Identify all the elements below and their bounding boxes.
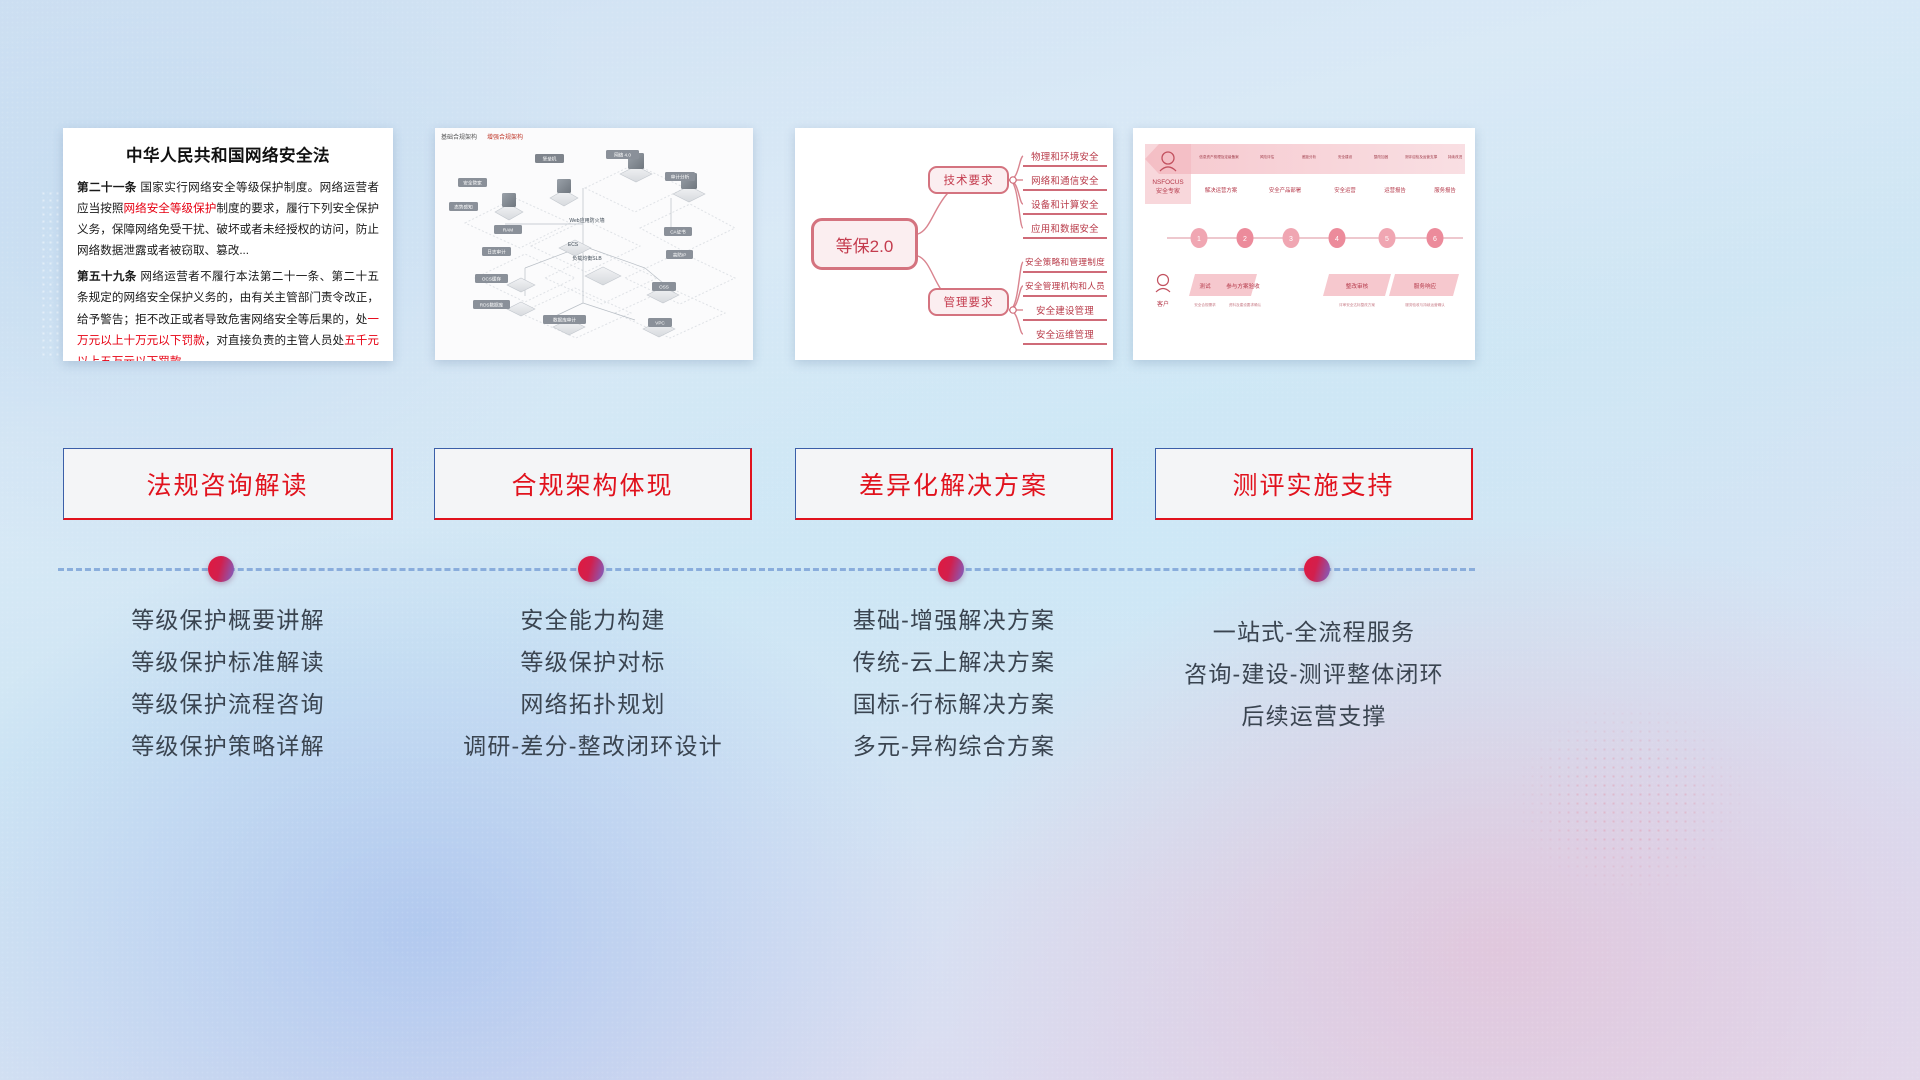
svg-text:测评迎检及运营支撑: 测评迎检及运营支撑 xyxy=(1405,154,1438,159)
svg-text:服务响应: 服务响应 xyxy=(1414,282,1437,290)
column-header-2[interactable]: 合规架构体现 xyxy=(434,448,752,520)
mindmap-leaf-org[interactable]: 安全管理机构和人员 xyxy=(1023,276,1107,297)
column-list-3: 基础-增强解决方案 传统-云上解决方案 国标-行标解决方案 多元-异构综合方案 xyxy=(795,600,1113,767)
column-header-1[interactable]: 法规咨询解读 xyxy=(63,448,393,520)
svg-text:Web应用防火墙: Web应用防火墙 xyxy=(569,217,604,224)
svg-text:VPC: VPC xyxy=(655,321,665,326)
customer-avatar-icon xyxy=(1158,275,1169,286)
svg-text:信息资产梳理及定级备案: 信息资产梳理及定级备案 xyxy=(1199,154,1239,159)
timeline-dot-2[interactable] xyxy=(578,556,604,582)
column-list-1: 等级保护概要讲解 等级保护标准解读 等级保护流程咨询 等级保护策略详解 xyxy=(63,600,393,767)
svg-text:OSS: OSS xyxy=(659,285,669,290)
svg-text:态势感知: 态势感知 xyxy=(454,204,473,211)
list-item: 安全能力构建 xyxy=(434,600,752,642)
svg-text:CA证书: CA证书 xyxy=(670,229,686,236)
svg-text:安全管家: 安全管家 xyxy=(463,180,482,187)
roadmap-customer-label: 客户 xyxy=(1157,300,1169,308)
list-item: 等级保护概要讲解 xyxy=(63,600,393,642)
svg-text:服务报告: 服务报告 xyxy=(1434,186,1456,194)
card-law-document[interactable]: 中华人民共和国网络安全法 第二十一条 国家实行网络安全等级保护制度。网络运营者应… xyxy=(63,128,393,361)
mindmap-branch-technical[interactable]: 技术要求 xyxy=(928,166,1009,194)
svg-text:解决运营方案: 解决运营方案 xyxy=(1205,186,1238,194)
svg-text:审计分析: 审计分析 xyxy=(671,174,690,181)
svg-text:负载均衡SLB: 负载均衡SLB xyxy=(572,255,602,262)
list-item: 网络拓扑规划 xyxy=(434,684,752,726)
svg-text:参与方案验收: 参与方案验收 xyxy=(1226,282,1260,290)
card-architecture-diagram[interactable]: 基础合规架构 增强合规架构 xyxy=(435,128,753,360)
mindmap-leaf-construction[interactable]: 安全建设管理 xyxy=(1023,300,1107,321)
roadmap-canvas: NSFOCUS 安全专家 信息资产梳理及定级备案 风险评估 差距分析 安全建设 … xyxy=(1133,128,1475,360)
svg-text:资料及建设要求确认: 资料及建设要求确认 xyxy=(1229,302,1262,307)
list-item: 等级保护策略详解 xyxy=(63,726,393,768)
mindmap-leaf-policy[interactable]: 安全策略和管理制度 xyxy=(1023,252,1107,273)
mindmap-branch-management[interactable]: 管理要求 xyxy=(928,288,1009,316)
mindmap-collapse-toggle-management[interactable] xyxy=(1010,307,1016,313)
law-body: 中华人民共和国网络安全法 第二十一条 国家实行网络安全等级保护制度。网络运营者应… xyxy=(63,128,393,361)
svg-text:日志审计: 日志审计 xyxy=(487,249,506,256)
column-header-4[interactable]: 测评实施支持 xyxy=(1155,448,1473,520)
card-mindmap[interactable]: 等保2.0 技术要求 物理和环境安全 网络和通信安全 设备和计算安全 应用和数据… xyxy=(795,128,1113,360)
mindmap-leaf-physical[interactable]: 物理和环境安全 xyxy=(1023,146,1107,167)
article-21-highlight: 网络安全等级保护 xyxy=(123,202,216,215)
preview-cards-row: 中华人民共和国网络安全法 第二十一条 国家实行网络安全等级保护制度。网络运营者应… xyxy=(0,128,1920,360)
svg-text:测试: 测试 xyxy=(1199,282,1211,290)
list-item: 等级保护流程咨询 xyxy=(63,684,393,726)
roadmap-brand: NSFOCUS xyxy=(1152,179,1183,186)
roadmap-brand-sub: 安全专家 xyxy=(1156,187,1180,195)
article-21-label: 第二十一条 xyxy=(77,181,137,194)
architecture-svg: 安全管家 态势感知 堡垒机 网络 4.0 审计分析 RAM 日志审计 CA证书 … xyxy=(435,128,753,360)
svg-text:6: 6 xyxy=(1433,236,1437,243)
svg-text:评审安全达标整改方案: 评审安全达标整改方案 xyxy=(1339,302,1375,307)
law-article-59: 第五十九条 网络运营者不履行本法第二十一条、第二十五条规定的网络安全保护义务的，… xyxy=(77,266,379,361)
mindmap-canvas: 等保2.0 技术要求 物理和环境安全 网络和通信安全 设备和计算安全 应用和数据… xyxy=(795,128,1113,360)
svg-text:1: 1 xyxy=(1197,236,1201,243)
svg-text:OCS缓存: OCS缓存 xyxy=(482,276,502,283)
list-item: 等级保护标准解读 xyxy=(63,642,393,684)
svg-text:持续改进: 持续改进 xyxy=(1448,154,1463,159)
svg-text:数据库审计: 数据库审计 xyxy=(553,317,576,324)
svg-text:安全合规需求: 安全合规需求 xyxy=(1194,302,1216,307)
svg-text:高防IP: 高防IP xyxy=(673,252,687,259)
mindmap-leaf-device[interactable]: 设备和计算安全 xyxy=(1023,194,1107,215)
timeline xyxy=(0,568,1920,572)
svg-text:ECS: ECS xyxy=(568,242,579,248)
svg-text:运营报告: 运营报告 xyxy=(1384,186,1406,194)
timeline-dot-1[interactable] xyxy=(208,556,234,582)
mindmap-root-node[interactable]: 等保2.0 xyxy=(811,218,918,270)
list-item: 一站式-全流程服务 xyxy=(1155,612,1473,654)
list-item: 多元-异构综合方案 xyxy=(795,726,1113,768)
timeline-dashed-line xyxy=(58,568,1475,571)
svg-text:差距分析: 差距分析 xyxy=(1302,154,1317,159)
svg-text:5: 5 xyxy=(1385,236,1389,243)
law-title: 中华人民共和国网络安全法 xyxy=(77,142,379,166)
svg-text:整改加固: 整改加固 xyxy=(1374,154,1389,159)
roadmap-svg: NSFOCUS 安全专家 信息资产梳理及定级备案 风险评估 差距分析 安全建设 … xyxy=(1133,128,1475,360)
svg-text:4: 4 xyxy=(1335,236,1339,243)
tab-enhanced-architecture[interactable]: 增强合规架构 xyxy=(487,132,523,141)
article-59-label: 第五十九条 xyxy=(77,270,137,283)
list-item: 传统-云上解决方案 xyxy=(795,642,1113,684)
svg-text:安全运营: 安全运营 xyxy=(1334,186,1356,194)
list-item: 国标-行标解决方案 xyxy=(795,684,1113,726)
timeline-dot-3[interactable] xyxy=(938,556,964,582)
svg-text:服务验收与持续运营确认: 服务验收与持续运营确认 xyxy=(1405,302,1445,307)
architecture-tabs: 基础合规架构 增强合规架构 xyxy=(441,132,523,141)
svg-text:RAM: RAM xyxy=(503,228,513,233)
svg-text:堡垒机: 堡垒机 xyxy=(543,156,557,163)
column-lists-row: 等级保护概要讲解 等级保护标准解读 等级保护流程咨询 等级保护策略详解 安全能力… xyxy=(0,600,1920,820)
card-roadmap[interactable]: NSFOCUS 安全专家 信息资产梳理及定级备案 风险评估 差距分析 安全建设 … xyxy=(1133,128,1475,360)
list-item: 后续运营支撑 xyxy=(1155,696,1473,738)
svg-text:RDS数据库: RDS数据库 xyxy=(480,302,504,309)
svg-text:安全建设: 安全建设 xyxy=(1338,154,1353,159)
timeline-dot-4[interactable] xyxy=(1304,556,1330,582)
mindmap-leaf-operation[interactable]: 安全运维管理 xyxy=(1023,324,1107,345)
architecture-canvas: 基础合规架构 增强合规架构 xyxy=(435,128,753,360)
tab-basic-architecture[interactable]: 基础合规架构 xyxy=(441,132,477,141)
list-item: 等级保护对标 xyxy=(434,642,752,684)
svg-text:整改审核: 整改审核 xyxy=(1346,282,1369,290)
mindmap-leaf-network[interactable]: 网络和通信安全 xyxy=(1023,170,1107,191)
svg-text:风险评估: 风险评估 xyxy=(1260,154,1275,159)
law-article-21: 第二十一条 国家实行网络安全等级保护制度。网络运营者应当按照网络安全等级保护制度… xyxy=(77,177,379,261)
mindmap-leaf-application[interactable]: 应用和数据安全 xyxy=(1023,218,1107,239)
svg-text:安全产品部署: 安全产品部署 xyxy=(1269,186,1302,194)
svg-text:网络 4.0: 网络 4.0 xyxy=(614,152,631,159)
list-item: 调研-差分-整改闭环设计 xyxy=(434,726,752,768)
column-list-2: 安全能力构建 等级保护对标 网络拓扑规划 调研-差分-整改闭环设计 xyxy=(434,600,752,767)
column-header-3[interactable]: 差异化解决方案 xyxy=(795,448,1113,520)
article-59-mid: ，对直接负责的主管人员处 xyxy=(205,334,344,347)
column-headers-row: 法规咨询解读 合规架构体现 差异化解决方案 测评实施支持 xyxy=(0,448,1920,520)
svg-text:2: 2 xyxy=(1243,236,1247,243)
column-list-4: 一站式-全流程服务 咨询-建设-测评整体闭环 后续运营支撑 xyxy=(1155,612,1473,738)
list-item: 咨询-建设-测评整体闭环 xyxy=(1155,654,1473,696)
list-item: 基础-增强解决方案 xyxy=(795,600,1113,642)
svg-text:3: 3 xyxy=(1289,236,1293,243)
mindmap-collapse-toggle-technical[interactable] xyxy=(1010,177,1016,183)
